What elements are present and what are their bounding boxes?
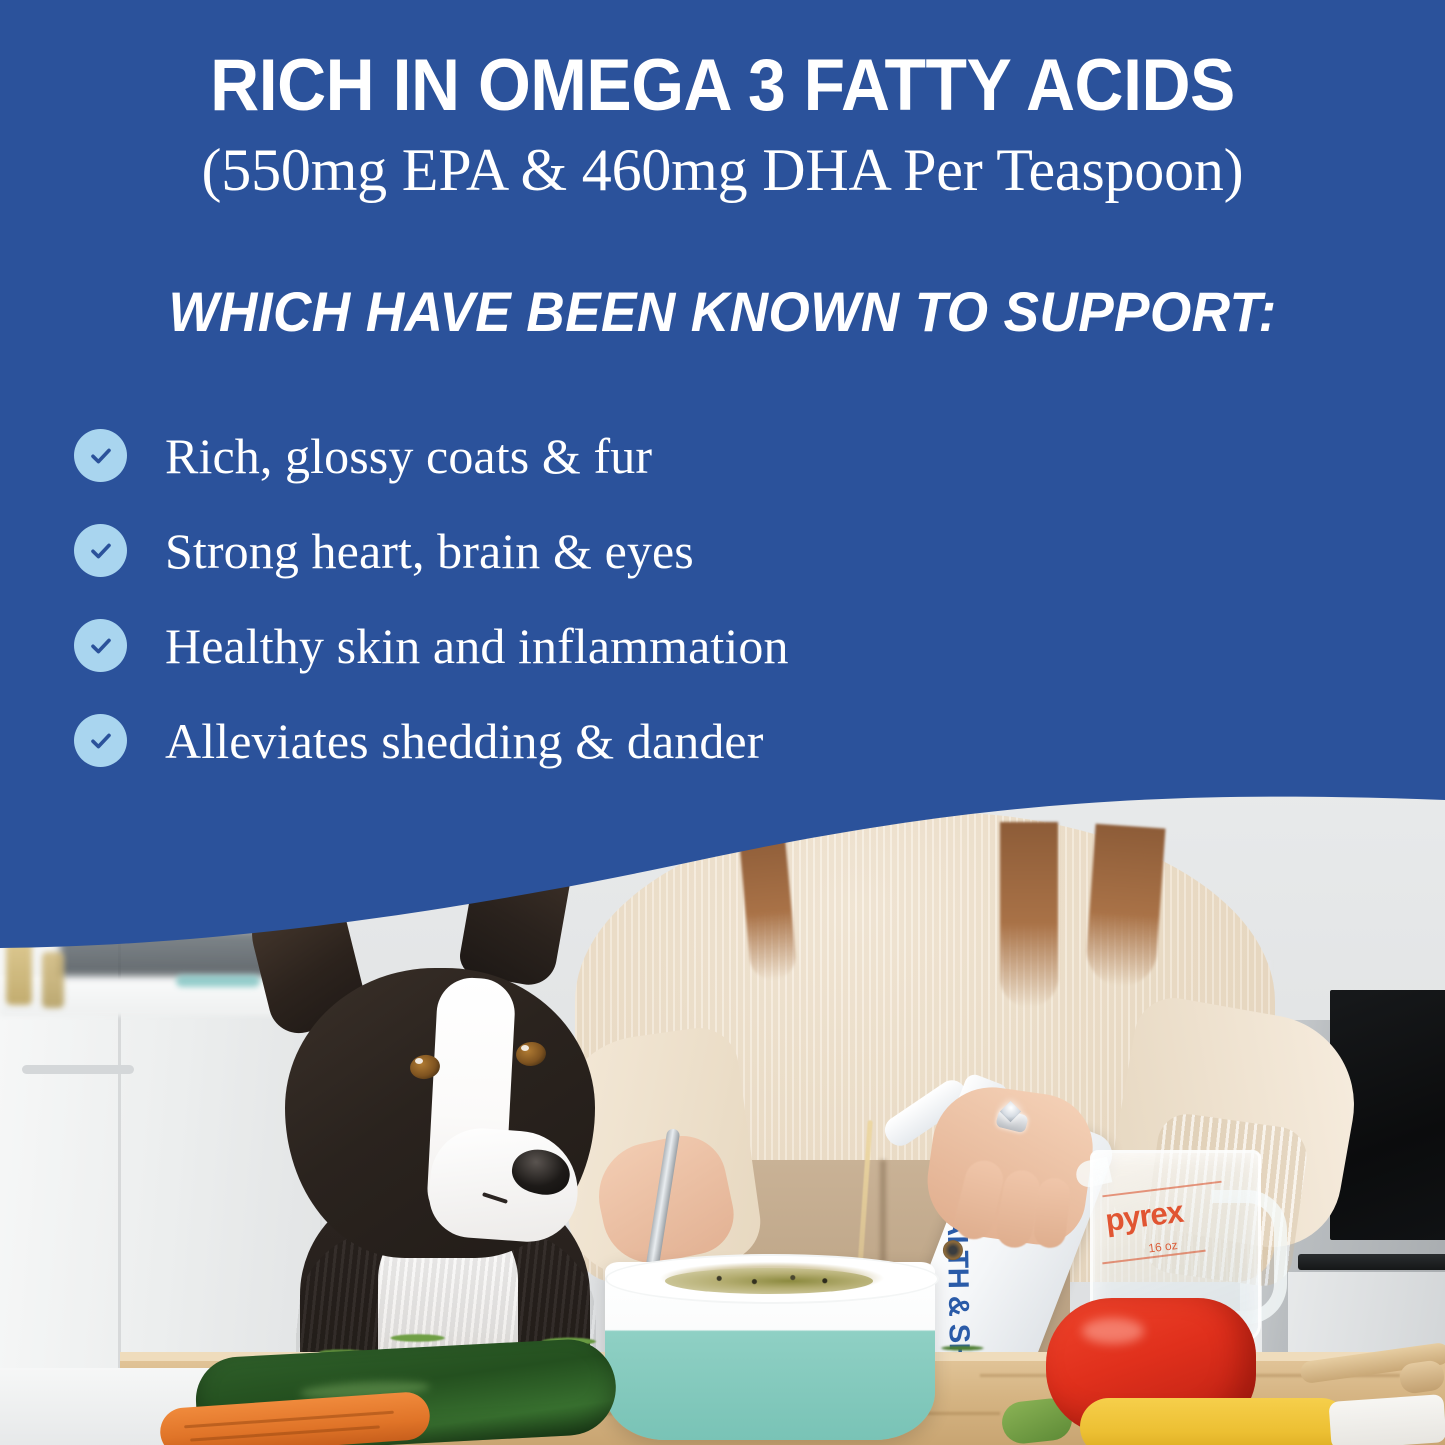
benefits-intro: WHICH HAVE BEEN KNOWN TO SUPPORT: (36, 279, 1409, 344)
promo-poster: Dr. Harv HEALTH & SHINE Wild Caught OMEG… (0, 0, 1445, 1445)
check-circle-icon (74, 524, 127, 577)
subheadline-dosage: (550mg EPA & 460mg DHA Per Teaspoon) (0, 136, 1445, 205)
benefits-list: Rich, glossy coats & fur Strong heart, b… (74, 408, 1174, 788)
dog-eye-highlight-left (415, 1058, 423, 1064)
benefit-label: Rich, glossy coats & fur (165, 427, 652, 485)
check-circle-icon (74, 429, 127, 482)
pepper-highlight (1082, 1318, 1144, 1344)
list-item: Strong heart, brain & eyes (74, 503, 1174, 598)
check-circle-icon (74, 714, 127, 767)
cabinet-handle (22, 1065, 134, 1074)
kitchen-cloth (1328, 1394, 1445, 1445)
header-content: RICH IN OMEGA 3 FATTY ACIDS (550mg EPA &… (0, 0, 1445, 1000)
list-item: Alleviates shedding & dander (74, 693, 1174, 788)
dog-eye-highlight-right (521, 1045, 529, 1051)
benefit-label: Strong heart, brain & eyes (165, 522, 694, 580)
benefit-label: Healthy skin and inflammation (165, 617, 789, 675)
list-item: Healthy skin and inflammation (74, 598, 1174, 693)
check-circle-icon (74, 619, 127, 672)
list-item: Rich, glossy coats & fur (74, 408, 1174, 503)
headline: RICH IN OMEGA 3 FATTY ACIDS (51, 44, 1395, 127)
oven-handle-lip (1298, 1254, 1445, 1270)
bowl-food-texture (700, 1272, 860, 1288)
yellow-squash (1080, 1398, 1350, 1445)
benefit-label: Alleviates shedding & dander (165, 712, 763, 770)
